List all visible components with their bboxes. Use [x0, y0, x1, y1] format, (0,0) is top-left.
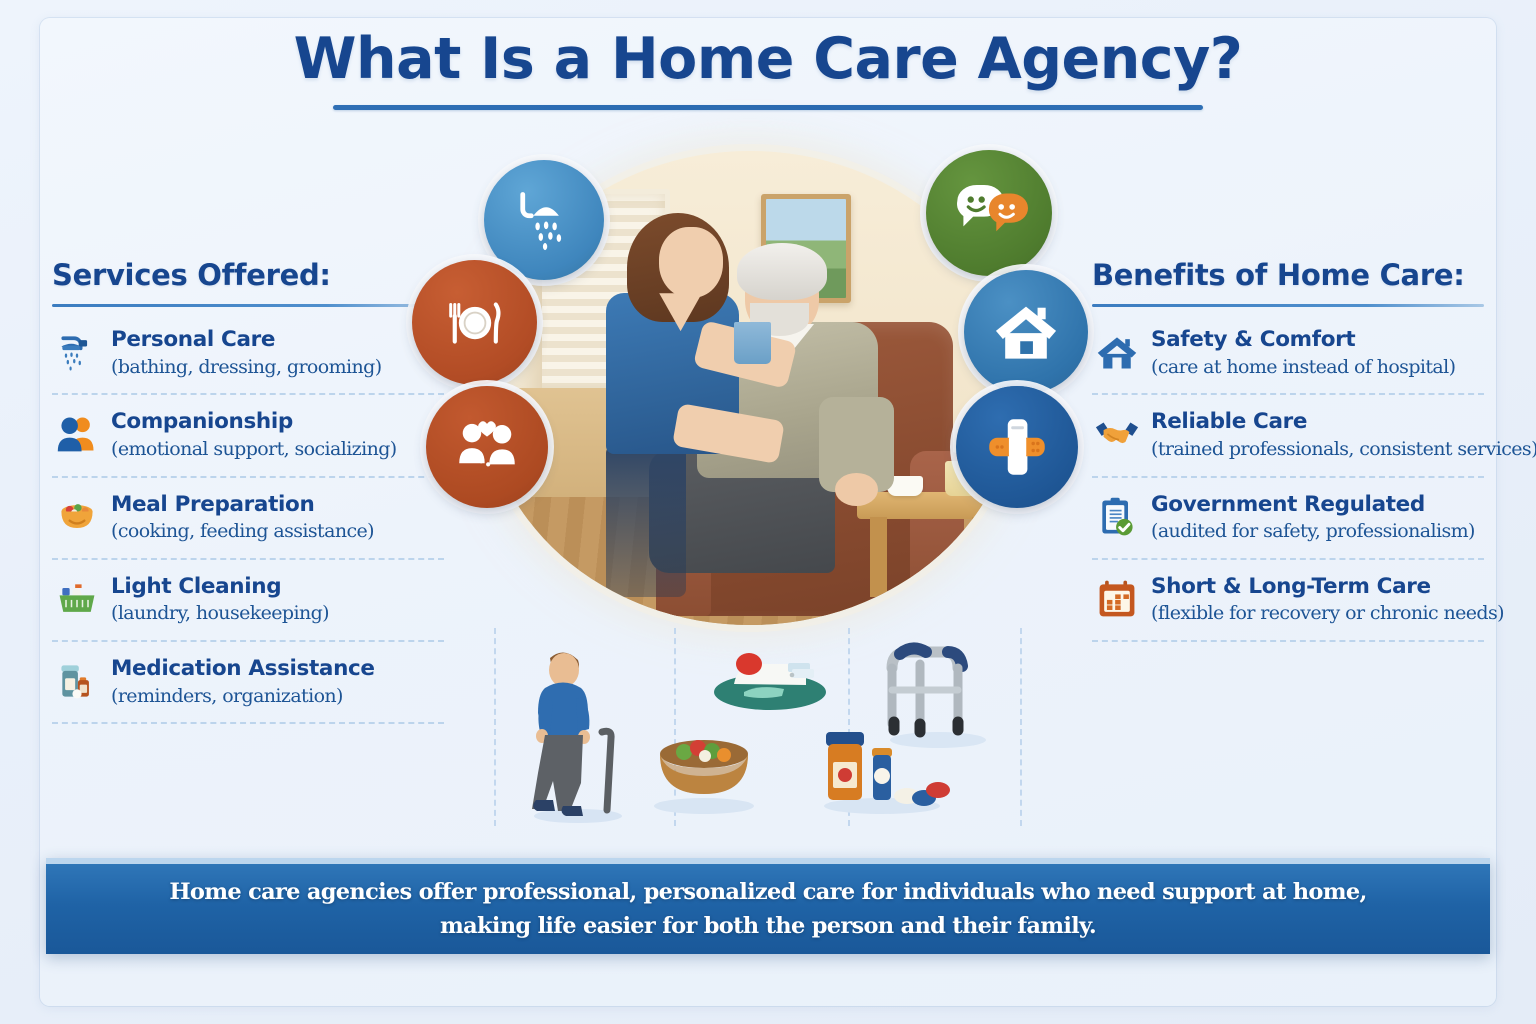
medicine-bottles-icon [812, 724, 952, 816]
list-item-title: Companionship [111, 410, 442, 435]
vegetable-bowl-icon [644, 724, 764, 816]
services-column: Services Offered: Person [52, 258, 444, 724]
shower-icon [54, 329, 100, 375]
summary-banner: Home care agencies offer professional, p… [46, 858, 1490, 954]
list-item-text: Companionship (emotional support, social… [111, 410, 442, 461]
hero-illustration [412, 138, 1088, 638]
drinking-cup [734, 322, 771, 365]
food-bowl-icon [54, 494, 100, 540]
list-item[interactable]: Meal Preparation (cooking, feeding assis… [52, 478, 444, 560]
shower-bubble-icon [484, 160, 604, 280]
bottom-icon-strip [492, 628, 1024, 826]
list-item-text: Short & Long-Term Care (flexible for rec… [1151, 575, 1482, 626]
caregiver-legs [606, 445, 686, 597]
list-item-text: Medication Assistance (reminders, organi… [111, 657, 442, 708]
companionship-bubble-icon [426, 386, 548, 508]
list-item-text: Government Regulated (audited for safety… [1151, 493, 1482, 544]
two-people-icon [54, 411, 100, 457]
house-bubble-icon [964, 270, 1088, 394]
list-item-title: Safety & Comfort [1151, 328, 1482, 353]
list-item-text: Meal Preparation (cooking, feeding assis… [111, 493, 442, 544]
list-item-title: Reliable Care [1151, 410, 1482, 435]
page-title-area: What Is a Home Care Agency? [0, 28, 1536, 110]
list-item-text: Safety & Comfort (care at home instead o… [1151, 328, 1482, 379]
strip-divider [494, 628, 496, 826]
handshake-icon [1094, 411, 1140, 457]
side-table [857, 492, 1007, 596]
list-item-title: Government Regulated [1151, 493, 1482, 518]
list-item[interactable]: Safety & Comfort (care at home instead o… [1092, 313, 1484, 395]
list-item[interactable]: Reliable Care (trained professionals, co… [1092, 395, 1484, 477]
summary-banner-text: Home care agencies offer professional, p… [169, 875, 1366, 943]
laundry-iron-icon [704, 642, 839, 712]
list-item-title: Light Cleaning [111, 575, 442, 600]
list-item-title: Meal Preparation [111, 493, 442, 518]
list-item-subtitle: (care at home instead of hospital) [1151, 356, 1482, 380]
list-item[interactable]: Medication Assistance (reminders, organi… [52, 642, 444, 724]
page-title: What Is a Home Care Agency? [0, 28, 1536, 91]
list-item[interactable]: Government Regulated (audited for safety… [1092, 478, 1484, 560]
list-item-title: Medication Assistance [111, 657, 442, 682]
list-item-subtitle: (cooking, feeding assistance) [111, 520, 442, 544]
services-heading: Services Offered: [52, 258, 444, 292]
list-item-subtitle: (laundry, housekeeping) [111, 602, 442, 626]
list-item[interactable]: Short & Long-Term Care (flexible for rec… [1092, 560, 1484, 642]
benefits-heading-underline [1092, 304, 1484, 307]
house-icon [1094, 329, 1140, 375]
list-item-title: Short & Long-Term Care [1151, 575, 1482, 600]
plate-cutlery-bubble-icon [412, 260, 537, 385]
benefits-column: Benefits of Home Care: Safety & Comfort … [1092, 258, 1484, 642]
list-item-subtitle: (bathing, dressing, grooming) [111, 356, 442, 380]
list-item-subtitle: (emotional support, socializing) [111, 438, 442, 462]
list-item-text: Reliable Care (trained professionals, co… [1151, 410, 1482, 461]
title-underline [333, 105, 1203, 110]
caregiver-face [659, 227, 723, 298]
list-item[interactable]: Companionship (emotional support, social… [52, 395, 444, 477]
list-item[interactable]: Light Cleaning (laundry, housekeeping) [52, 560, 444, 642]
man-with-cane-icon [520, 640, 640, 826]
elderly-man-hair [737, 243, 828, 300]
summary-line-2: making life easier for both the person a… [440, 913, 1096, 939]
bandage-bubble-icon [956, 386, 1078, 508]
services-heading-underline [52, 304, 444, 307]
calendar-icon [1094, 576, 1140, 622]
list-item-subtitle: (trained professionals, consistent servi… [1151, 438, 1482, 462]
list-item-subtitle: (reminders, organization) [111, 685, 442, 709]
list-item-subtitle: (flexible for recovery or chronic needs) [1151, 602, 1482, 626]
strip-divider [1020, 628, 1022, 826]
pill-bottle-icon [54, 658, 100, 704]
benefits-heading: Benefits of Home Care: [1092, 258, 1484, 292]
list-item-text: Personal Care (bathing, dressing, groomi… [111, 328, 442, 379]
clipboard-check-icon [1094, 494, 1140, 540]
list-item[interactable]: Personal Care (bathing, dressing, groomi… [52, 313, 444, 395]
infographic-page: What Is a Home Care Agency? [0, 0, 1536, 1024]
list-item-text: Light Cleaning (laundry, housekeeping) [111, 575, 442, 626]
chat-bubbles-bubble-icon [926, 150, 1052, 276]
cleaning-basket-icon [54, 576, 100, 622]
list-item-title: Personal Care [111, 328, 442, 353]
list-item-subtitle: (audited for safety, professionalism) [1151, 520, 1482, 544]
summary-line-1: Home care agencies offer professional, p… [169, 879, 1366, 905]
